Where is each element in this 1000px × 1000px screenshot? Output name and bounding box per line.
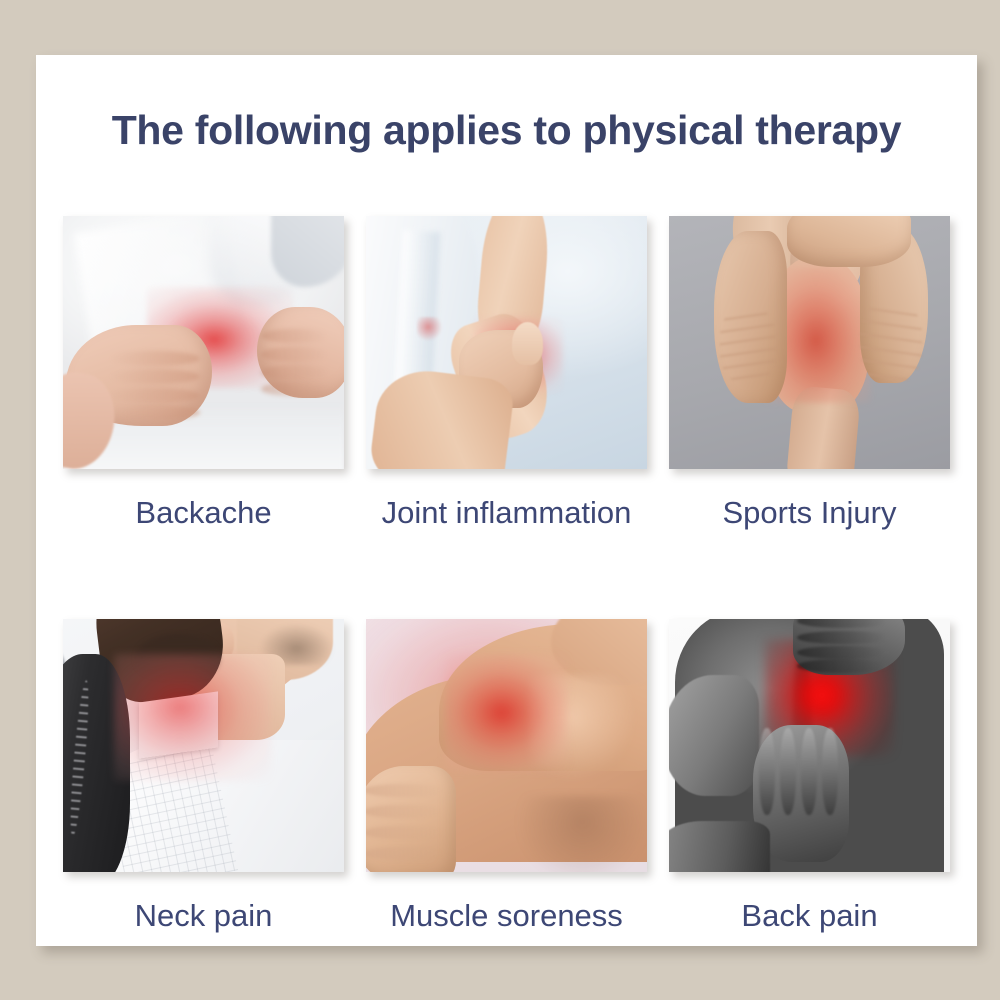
poster-card: The following applies to physical therap…: [36, 55, 977, 946]
neck-pain-illustration: [63, 619, 344, 872]
condition-label: Muscle soreness: [366, 900, 647, 931]
back-pain-illustration: [669, 619, 950, 872]
condition-cell-neck-pain[interactable]: Neck pain: [63, 619, 344, 931]
muscle-soreness-photo[interactable]: [366, 619, 647, 872]
condition-label: Sports Injury: [669, 497, 950, 528]
backache-photo[interactable]: [63, 216, 344, 469]
poster-page: The following applies to physical therap…: [0, 0, 1000, 1000]
condition-cell-sports-injury[interactable]: Sports Injury: [669, 216, 950, 528]
pain-glow: [445, 654, 569, 770]
condition-label: Backache: [63, 497, 344, 528]
condition-cell-joint-inflammation[interactable]: Joint inflammation: [366, 216, 647, 528]
back-pain-photo[interactable]: [669, 619, 950, 872]
gripping-hand: [366, 766, 456, 872]
right-hand: [257, 307, 344, 398]
muscle-soreness-illustration: [366, 619, 647, 872]
pain-glow: [114, 654, 271, 781]
joint-inflammation-illustration: [366, 216, 647, 469]
condition-grid: Backache: [45, 216, 968, 931]
page-title: The following applies to physical therap…: [36, 107, 977, 154]
condition-cell-backache[interactable]: Backache: [63, 216, 344, 528]
condition-row-1: Backache: [45, 216, 968, 528]
condition-label: Back pain: [669, 900, 950, 931]
condition-cell-back-pain[interactable]: Back pain: [669, 619, 950, 931]
backache-illustration: [63, 216, 344, 469]
upper-hand: [793, 619, 905, 675]
condition-label: Neck pain: [63, 900, 344, 931]
joint-inflammation-photo[interactable]: [366, 216, 647, 469]
condition-row-2: Neck pain: [45, 619, 968, 931]
condition-cell-muscle-soreness[interactable]: Muscle soreness: [366, 619, 647, 931]
sports-injury-illustration: [669, 216, 950, 469]
neck-pain-photo[interactable]: [63, 619, 344, 872]
condition-label: Joint inflammation: [366, 497, 647, 528]
sports-injury-photo[interactable]: [669, 216, 950, 469]
